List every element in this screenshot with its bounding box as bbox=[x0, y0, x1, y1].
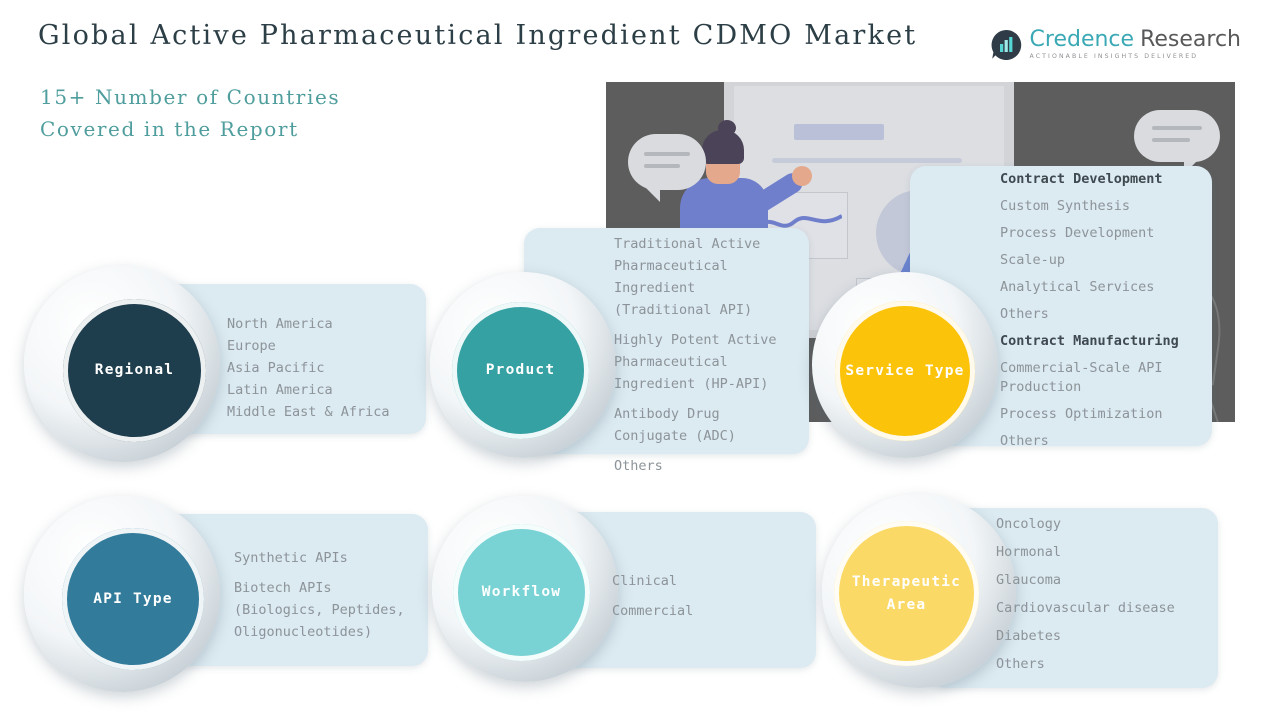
list-item: Others bbox=[1000, 432, 1210, 451]
slide-title-bar bbox=[794, 124, 884, 140]
presenter-hand bbox=[792, 166, 812, 186]
therapeutic-area-label: Therapeutic Area bbox=[834, 571, 979, 616]
workflow-items: Clinical Commercial bbox=[612, 570, 802, 630]
logo-name-primary: Credence bbox=[1030, 29, 1135, 51]
list-item: Process Optimization bbox=[1000, 405, 1210, 424]
service-type-circle[interactable]: Service Type bbox=[835, 301, 975, 441]
list-item: Glaucoma bbox=[996, 570, 1221, 590]
list-item: Synthetic APIs bbox=[234, 547, 439, 569]
subtitle-line-1: 15+ Number of Countries bbox=[40, 81, 340, 113]
list-item: Cardiovascular disease bbox=[996, 598, 1221, 618]
list-item: Others bbox=[996, 654, 1221, 674]
service-type-label: Service Type bbox=[845, 360, 964, 382]
service-type-items: Contract Development Custom Synthesis Pr… bbox=[1000, 170, 1210, 459]
list-item: Biotech APIs (Biologics, Peptides, Oligo… bbox=[234, 577, 439, 643]
therapeutic-area-items: Oncology Hormonal Glaucoma Cardiovascula… bbox=[996, 514, 1221, 682]
slide-text-line bbox=[772, 158, 962, 163]
report-subtitle: 15+ Number of Countries Covered in the R… bbox=[40, 81, 340, 145]
infographic-canvas: Global Active Pharmaceutical Ingredient … bbox=[0, 0, 1267, 713]
list-item-header: Contract Manufacturing bbox=[1000, 332, 1210, 351]
list-item: Hormonal bbox=[996, 542, 1221, 562]
speech-bubble-right-icon bbox=[1134, 110, 1220, 162]
subtitle-line-2: Covered in the Report bbox=[40, 113, 340, 145]
list-item: Clinical bbox=[612, 570, 802, 592]
list-item: Commercial bbox=[612, 600, 802, 622]
logo-name-secondary: Research bbox=[1140, 29, 1241, 51]
list-item: Europe bbox=[227, 335, 427, 357]
list-item: Diabetes bbox=[996, 626, 1221, 646]
regional-label: Regional bbox=[95, 359, 174, 381]
workflow-circle[interactable]: Workflow bbox=[453, 524, 590, 661]
logo-wordmark: Credence Research Actionable Insights De… bbox=[1030, 29, 1241, 60]
list-item: Latin America bbox=[227, 379, 427, 401]
therapeutic-area-circle[interactable]: Therapeutic Area bbox=[834, 521, 979, 666]
list-item: Antibody Drug Conjugate (ADC) bbox=[614, 403, 804, 447]
list-item: Highly Potent Active Pharmaceutical Ingr… bbox=[614, 329, 804, 395]
list-item: Middle East & Africa bbox=[227, 401, 427, 423]
list-item: Process Development bbox=[1000, 224, 1210, 243]
list-item: Commercial-Scale API Production bbox=[1000, 359, 1210, 397]
list-item: Asia Pacific bbox=[227, 357, 427, 379]
logo-tagline: Actionable Insights Delivered bbox=[1030, 54, 1241, 60]
list-item: Analytical Services bbox=[1000, 278, 1210, 297]
product-circle[interactable]: Product bbox=[452, 302, 589, 439]
api-type-circle[interactable]: API Type bbox=[62, 528, 204, 670]
list-item: Others bbox=[1000, 305, 1210, 324]
api-type-label: API Type bbox=[93, 588, 172, 610]
list-item: Others bbox=[614, 455, 804, 477]
list-item: Oncology bbox=[996, 514, 1221, 534]
product-label: Product bbox=[486, 359, 556, 381]
api-type-items: Synthetic APIs Biotech APIs (Biologics, … bbox=[234, 547, 439, 651]
presenter-hair-bun bbox=[718, 120, 736, 136]
list-item: Custom Synthesis bbox=[1000, 197, 1210, 216]
brand-logo: Credence Research Actionable Insights De… bbox=[989, 28, 1241, 62]
page-title: Global Active Pharmaceutical Ingredient … bbox=[38, 20, 917, 51]
regional-items: North America Europe Asia Pacific Latin … bbox=[227, 313, 427, 423]
speech-bubble-left-icon bbox=[628, 134, 706, 190]
regional-circle[interactable]: Regional bbox=[63, 299, 206, 442]
list-item: Traditional Active Pharmaceutical Ingred… bbox=[614, 233, 804, 321]
list-item: Scale-up bbox=[1000, 251, 1210, 270]
workflow-label: Workflow bbox=[482, 581, 561, 603]
list-item: North America bbox=[227, 313, 427, 335]
bar-chart-circle-icon bbox=[989, 28, 1023, 62]
list-item-header: Contract Development bbox=[1000, 170, 1210, 189]
product-items: Traditional Active Pharmaceutical Ingred… bbox=[614, 233, 804, 485]
